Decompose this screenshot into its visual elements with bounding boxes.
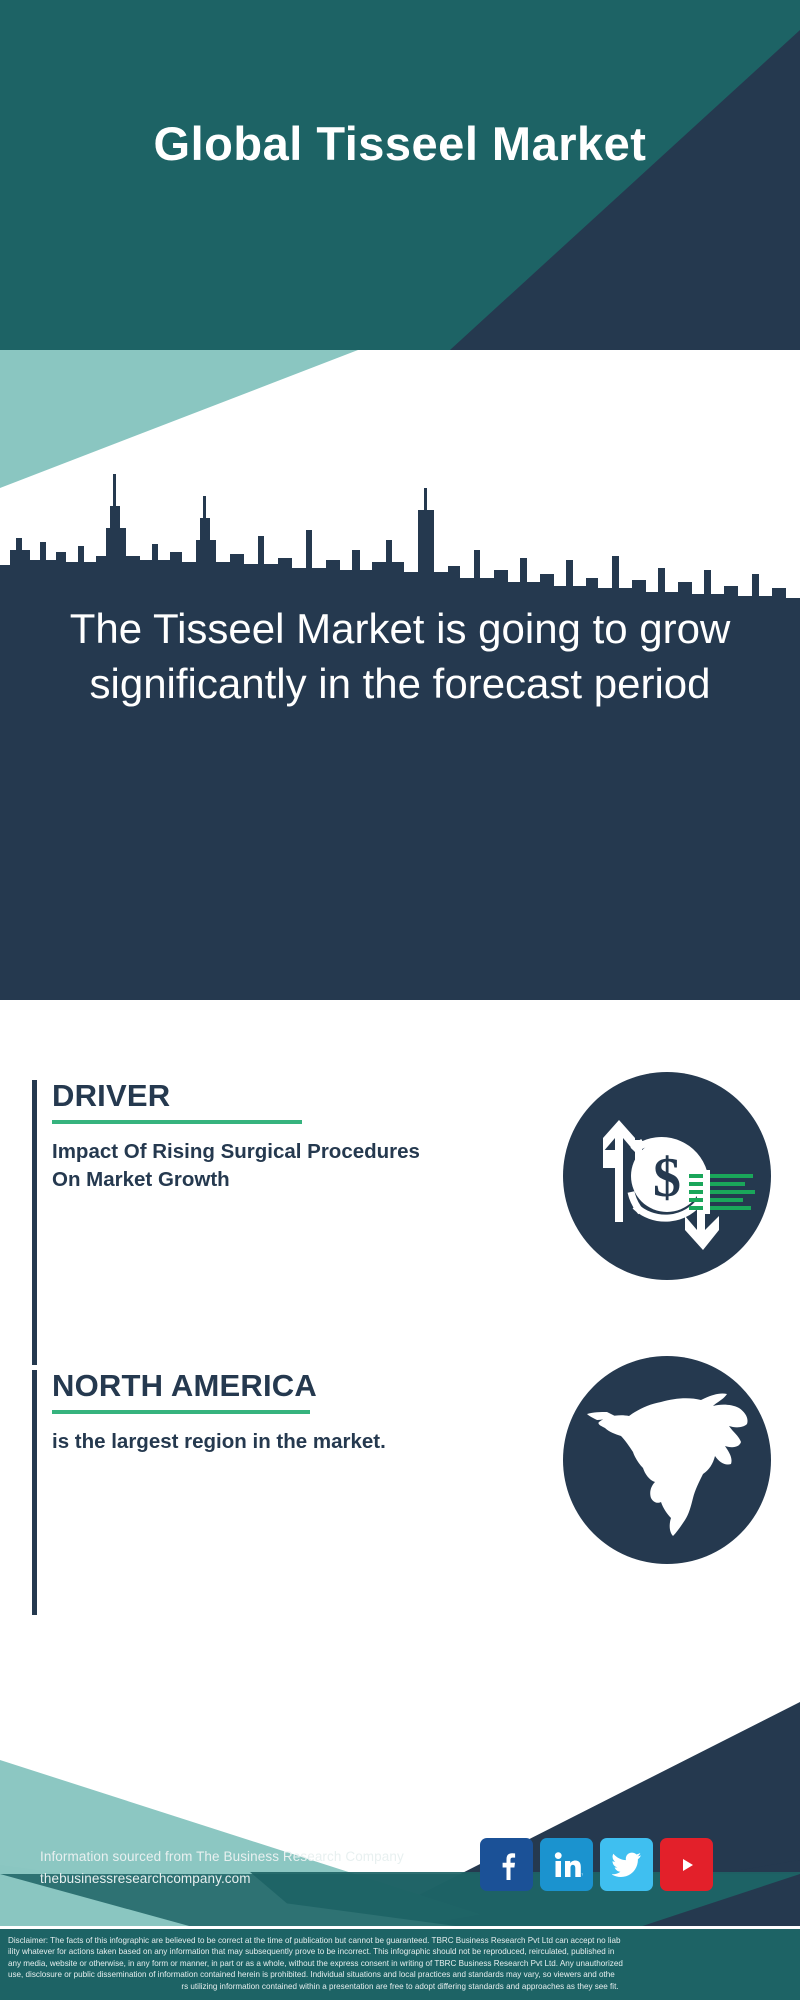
disclaimer-line-5: rs utilizing information contained withi… [8, 1981, 792, 1992]
linkedin-glyph: ™ [551, 1849, 583, 1881]
driver-underline [52, 1120, 302, 1124]
driver-card-text: DRIVER Impact Of Rising Surgical Procedu… [52, 1080, 472, 1194]
region-underline [52, 1410, 310, 1414]
twitter-icon[interactable] [600, 1838, 653, 1891]
driver-body-text: Impact Of Rising Surgical Procedures On … [52, 1138, 432, 1195]
card-accent-bar [32, 1080, 37, 1365]
header-banner: Global Tisseel Market [0, 0, 800, 350]
region-card-text: NORTH AMERICA is the largest region in t… [52, 1370, 472, 1456]
facebook-icon[interactable] [480, 1838, 533, 1891]
disclaimer-line-2: ility whatever for actions taken based o… [8, 1946, 792, 1957]
disclaimer-line-1: Disclaimer: The facts of this infographi… [8, 1935, 792, 1946]
disclaimer-bar: Disclaimer: The facts of this infographi… [0, 1926, 800, 2000]
facebook-glyph [492, 1850, 522, 1880]
card-accent-bar [32, 1370, 37, 1615]
hero-tagline: The Tisseel Market is going to grow sign… [60, 602, 740, 711]
dollar-growth-icon: $ [563, 1072, 771, 1280]
insight-cards-section: DRIVER Impact Of Rising Surgical Procedu… [0, 1000, 800, 1660]
social-links: ™ [480, 1838, 713, 1891]
page-title: Global Tisseel Market [0, 118, 800, 170]
svg-text:$: $ [653, 1147, 681, 1209]
hero-section: The Tisseel Market is going to grow sign… [0, 350, 800, 1000]
twitter-bird-glyph [612, 1852, 642, 1878]
linkedin-icon[interactable]: ™ [540, 1838, 593, 1891]
svg-text:™: ™ [581, 1873, 583, 1879]
driver-card: DRIVER Impact Of Rising Surgical Procedu… [32, 1080, 768, 1370]
youtube-icon[interactable] [660, 1838, 713, 1891]
region-card: NORTH AMERICA is the largest region in t… [32, 1370, 768, 1620]
dollar-growth-glyph: $ [563, 1072, 771, 1280]
disclaimer-line-4: use, disclosure or public dissemination … [8, 1969, 792, 1980]
youtube-play-glyph [671, 1853, 703, 1877]
north-america-map-glyph [563, 1356, 771, 1564]
footer-diagonal-shapes [0, 1660, 800, 1940]
credit-line-website[interactable]: thebusinessresearchcompany.com [40, 1868, 404, 1890]
credit-line-source: Information sourced from The Business Re… [40, 1846, 404, 1868]
region-heading: NORTH AMERICA [52, 1370, 472, 1403]
north-america-map-icon [563, 1356, 771, 1564]
infographic-page: Global Tisseel Market The Tisseel Market… [0, 0, 800, 2000]
header-diagonal-shape [0, 0, 800, 350]
region-body-text: is the largest region in the market. [52, 1428, 432, 1456]
disclaimer-line-3: any media, website or otherwise, in any … [8, 1958, 792, 1969]
driver-heading: DRIVER [52, 1080, 472, 1113]
footer-credit: Information sourced from The Business Re… [40, 1846, 404, 1890]
